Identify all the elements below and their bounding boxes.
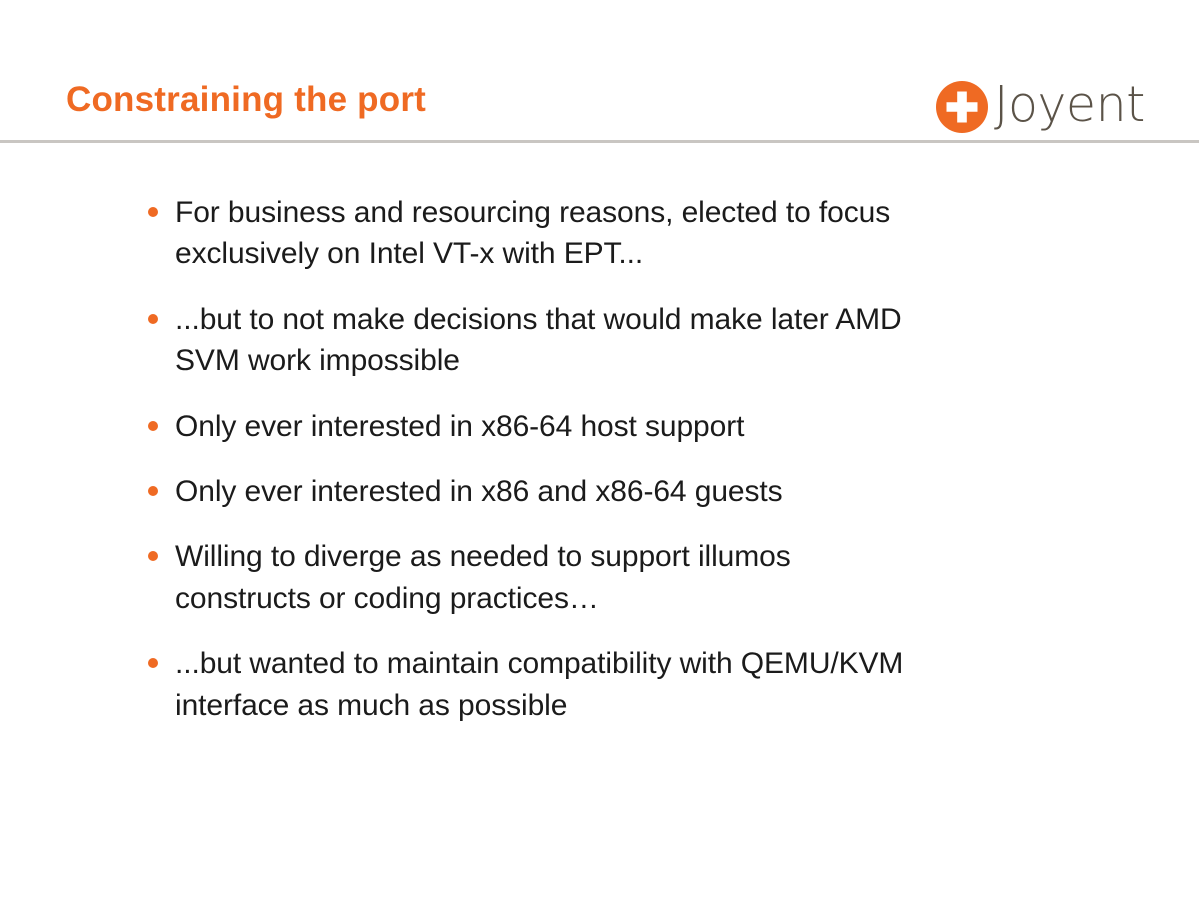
list-item: ...but wanted to maintain compatibility … [148, 643, 1088, 726]
page-title: Constraining the port [66, 82, 426, 119]
list-item-label: For business and resourcing reasons, ele… [175, 192, 1088, 275]
list-item-label: Only ever interested in x86-64 host supp… [175, 406, 1088, 447]
list-item: Only ever interested in x86-64 host supp… [148, 406, 1088, 447]
slide-body-bullet-list: For business and resourcing reasons, ele… [148, 192, 1088, 750]
joyent-logo: Joyent [936, 76, 1146, 136]
list-item-label: Willing to diverge as needed to support … [175, 536, 1088, 619]
bullet-dot-icon [148, 658, 158, 668]
list-item-label: ...but wanted to maintain compatibility … [175, 643, 1088, 726]
bullet-dot-icon [148, 421, 158, 431]
joyent-wordmark: Joyent [994, 75, 1145, 135]
bullet-dot-icon [148, 314, 158, 324]
slide-header: Constraining the port Joyent [0, 0, 1199, 144]
list-item-label: Only ever interested in x86 and x86-64 g… [175, 471, 1088, 512]
header-divider [0, 140, 1199, 143]
bullet-dot-icon [148, 486, 158, 496]
list-item: Willing to diverge as needed to support … [148, 536, 1088, 619]
list-item-label: ...but to not make decisions that would … [175, 299, 1088, 382]
bullet-dot-icon [148, 207, 158, 217]
list-item: Only ever interested in x86 and x86-64 g… [148, 471, 1088, 512]
presentation-slide: Constraining the port Joyent For busines… [0, 0, 1199, 899]
list-item: ...but to not make decisions that would … [148, 299, 1088, 382]
list-item: For business and resourcing reasons, ele… [148, 192, 1088, 275]
joyent-plus-circle-icon [936, 81, 988, 133]
bullet-dot-icon [148, 551, 158, 561]
